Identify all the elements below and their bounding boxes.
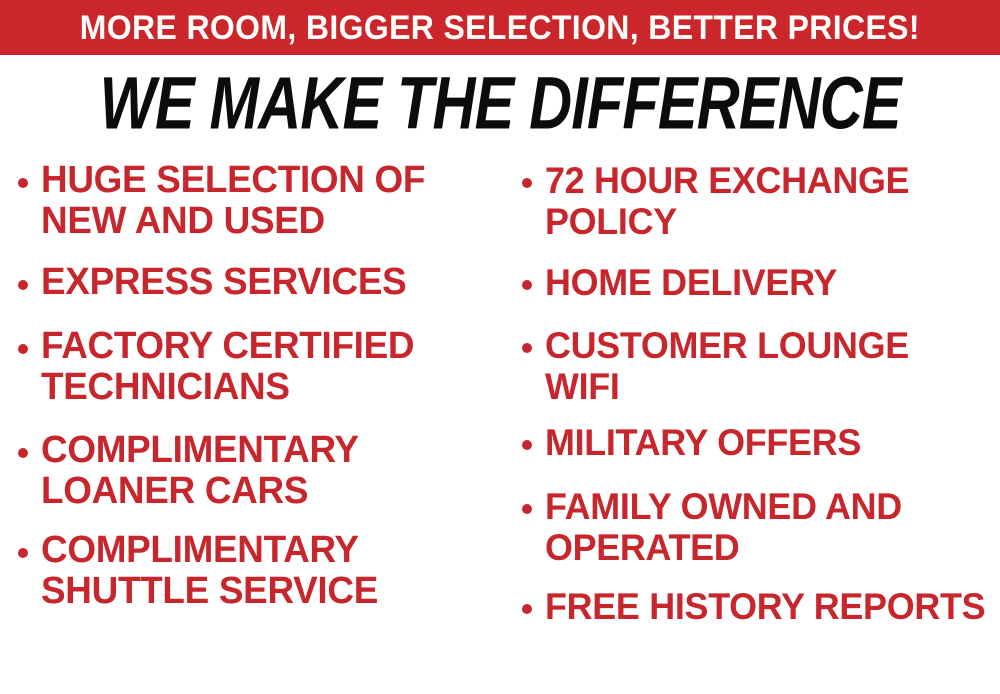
list-item: FAMILY OWNED AND OPERATED [522, 486, 1000, 568]
list-item: COMPLIMENTARY LOANER CARS [18, 430, 500, 512]
list-item: MILITARY OFFERS [522, 422, 1000, 463]
list-item: CUSTOMER LOUNGE WIFI [522, 325, 1000, 407]
bullet-dot-icon [522, 280, 532, 290]
bullet-dot-icon [522, 343, 532, 353]
bullet-dot-icon [18, 344, 28, 354]
bullet-dot-icon [522, 604, 532, 614]
list-item: EXPRESS SERVICES [18, 262, 500, 303]
bullet-dot-icon [18, 178, 28, 188]
list-item: 72 HOUR EXCHANGE POLICY [522, 160, 1000, 242]
list-item-label: FACTORY CERTIFIED TECHNICIANS [41, 326, 486, 408]
bullet-dot-icon [522, 504, 532, 514]
headline-text: WE MAKE THE DIFFERENCE [99, 66, 900, 140]
benefits-columns: HUGE SELECTION OF NEW AND USED EXPRESS S… [0, 160, 1000, 694]
list-item-label: FREE HISTORY REPORTS [545, 586, 985, 627]
bullet-dot-icon [522, 440, 532, 450]
bullet-dot-icon [522, 178, 532, 188]
list-item-label: COMPLIMENTARY SHUTTLE SERVICE [41, 530, 486, 612]
list-item-label: FAMILY OWNED AND OPERATED [545, 486, 986, 568]
list-item-label: COMPLIMENTARY LOANER CARS [41, 430, 486, 512]
list-item: HUGE SELECTION OF NEW AND USED [18, 160, 500, 242]
promo-poster: { "colors": { "banner_background": "#cb2… [0, 0, 1000, 694]
list-item-label: CUSTOMER LOUNGE WIFI [545, 325, 986, 407]
list-item-label: 72 HOUR EXCHANGE POLICY [545, 160, 986, 242]
list-item-label: HUGE SELECTION OF NEW AND USED [41, 160, 486, 242]
list-item: FACTORY CERTIFIED TECHNICIANS [18, 326, 500, 408]
list-item: COMPLIMENTARY SHUTTLE SERVICE [18, 530, 500, 612]
benefits-column-left: HUGE SELECTION OF NEW AND USED EXPRESS S… [0, 160, 500, 694]
list-item-label: EXPRESS SERVICES [41, 262, 406, 303]
promo-banner-text: MORE ROOM, BIGGER SELECTION, BETTER PRIC… [80, 11, 920, 45]
list-item: HOME DELIVERY [522, 262, 1000, 303]
list-item-label: MILITARY OFFERS [545, 422, 861, 463]
list-item: FREE HISTORY REPORTS [522, 586, 1000, 627]
bullet-dot-icon [18, 280, 28, 290]
headline: WE MAKE THE DIFFERENCE [0, 68, 1000, 138]
bullet-dot-icon [18, 548, 28, 558]
bullet-dot-icon [18, 448, 28, 458]
promo-banner: MORE ROOM, BIGGER SELECTION, BETTER PRIC… [0, 0, 1000, 55]
list-item-label: HOME DELIVERY [545, 262, 837, 303]
benefits-column-right: 72 HOUR EXCHANGE POLICY HOME DELIVERY CU… [500, 160, 1000, 694]
